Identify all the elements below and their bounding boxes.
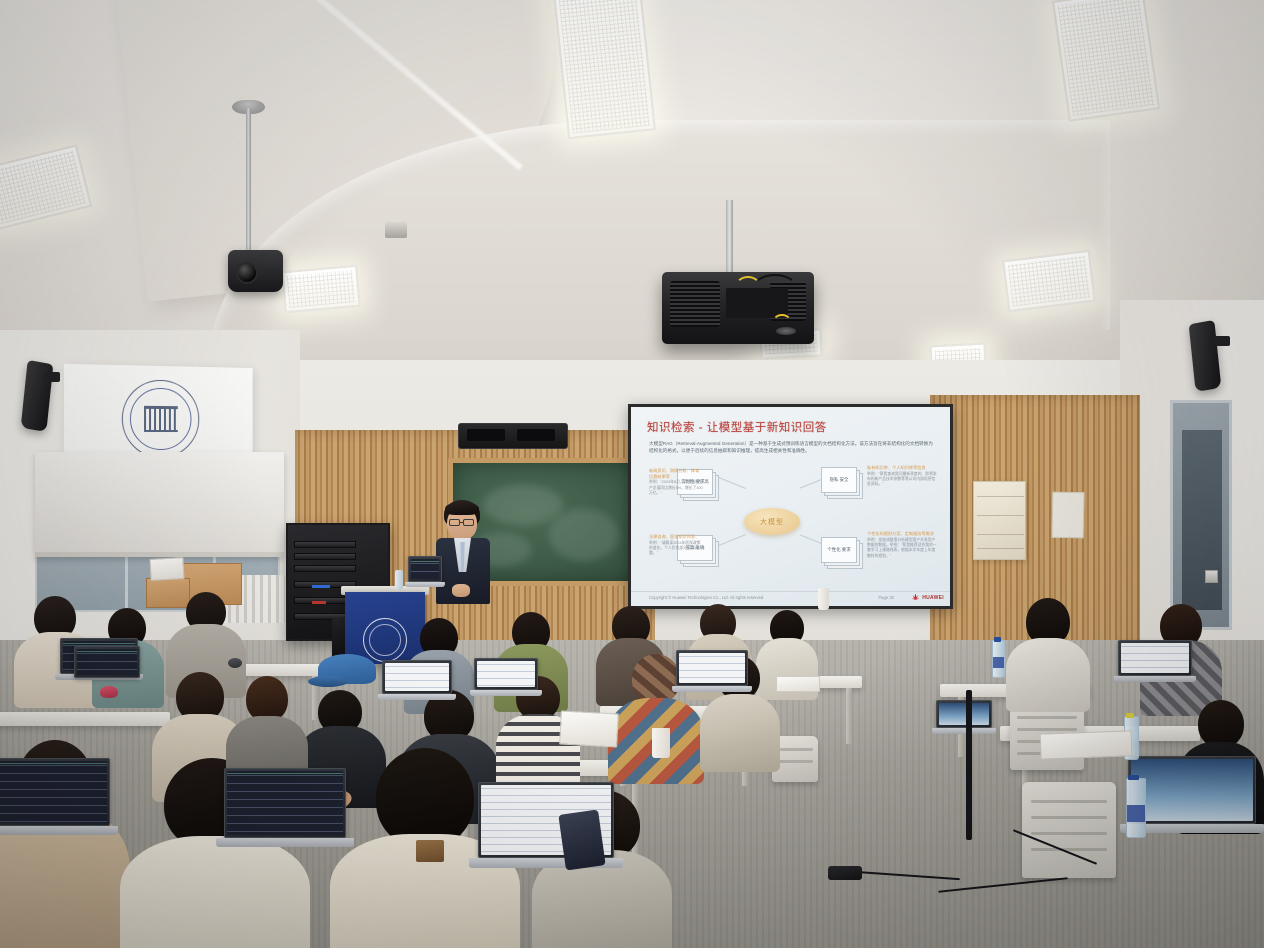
tablet-screen — [77, 649, 137, 675]
screen-content-document — [1121, 643, 1189, 673]
paper-sheet[interactable] — [559, 711, 619, 748]
rack-status-led — [312, 585, 330, 588]
projector-cable-yellow — [772, 314, 792, 332]
screen-content-document — [385, 663, 449, 691]
student-head — [632, 654, 680, 704]
rack-unit — [294, 553, 356, 560]
annotation-body: 举例："帮我查询我司最新季度的、即将发布的新产品技术参数等等公司内部机密信息资料… — [867, 472, 939, 488]
projector-vent — [670, 281, 720, 327]
diagram-card: 隐私 安全 — [821, 467, 857, 493]
seal-inner-ring — [130, 388, 192, 451]
university-seal-icon — [122, 379, 199, 458]
annotation-heading: 个性化的理财方案、定制服务等需求 — [867, 531, 939, 537]
right-door-glass — [1182, 430, 1222, 610]
student-laptop[interactable] — [676, 650, 748, 692]
annotation-body: 举例：发放调整需分析模型客户关系用户数据的数据。举例："帮我推荐适合我的一套学习… — [867, 538, 939, 559]
speaker-bracket — [1214, 336, 1230, 346]
rack-status-led — [312, 601, 326, 604]
chair-slat — [1031, 848, 1106, 851]
diagram-connector — [716, 534, 746, 547]
computer-mouse[interactable] — [228, 658, 242, 668]
blind-bottom-bar[interactable] — [35, 552, 284, 557]
bottle-cap — [1126, 713, 1134, 718]
desk — [0, 712, 170, 726]
student-torso — [700, 694, 780, 772]
slide-copyright: Copyright © Huawei Technologies Co., Ltd… — [649, 595, 764, 600]
laptop-keyboard-base[interactable] — [216, 838, 354, 847]
laptop-screen — [411, 559, 439, 579]
cap-brim — [308, 676, 348, 687]
tablet-screen-lid — [74, 646, 140, 678]
laptop-keyboard-base[interactable] — [470, 690, 542, 696]
board-av-unit — [458, 423, 568, 449]
diagram-card: 个性化 要求 — [821, 537, 857, 563]
laptop-screen — [385, 663, 449, 691]
laptop-lid — [224, 768, 346, 838]
slide-title: 知识检索 - 让模型基于新知识回答 — [647, 419, 827, 435]
rack-unit — [294, 541, 356, 548]
paper-sheet[interactable] — [776, 676, 820, 692]
student-head — [376, 748, 474, 848]
smartphone[interactable] — [558, 809, 605, 870]
ceiling-light-panel — [1002, 250, 1096, 312]
window-roller-blind[interactable] — [35, 452, 284, 557]
laptop-lid — [936, 700, 992, 728]
laptop-screen — [227, 771, 343, 835]
power-brick — [828, 866, 862, 880]
projection-screen: 知识检索 - 让模型基于新知识回答 大模型RAG（Retrieval-Augme… — [628, 404, 953, 609]
chair[interactable] — [1022, 782, 1116, 878]
chair-slat — [1017, 728, 1076, 731]
chair-slat — [1031, 800, 1106, 803]
ceiling-sensor — [385, 222, 407, 238]
wall-paper-sheet — [1052, 492, 1085, 539]
notebook[interactable] — [1040, 730, 1133, 759]
bottle-label — [1127, 805, 1145, 822]
laptop-lid — [0, 758, 110, 826]
student-laptop[interactable] — [382, 660, 452, 700]
screen-content-document — [477, 661, 535, 687]
desk-leg — [846, 688, 852, 744]
glasses-bridge — [460, 522, 463, 523]
slide-annotation: 私有知识库、个人知识库等信息 举例："帮我查询我司最新季度的、即将发布的新产品技… — [867, 465, 939, 488]
student-laptop[interactable] — [936, 700, 992, 734]
slide-body-text: 大模型RAG（Retrieval-Augmented Generation）是一… — [649, 440, 937, 454]
water-bottle[interactable] — [992, 640, 1005, 678]
annotation-heading: 新闻资讯、舆情分析、体育比赛结果等 — [649, 468, 703, 479]
ceiling-light-panel — [1052, 0, 1160, 122]
camera-lens-icon — [236, 262, 258, 284]
paper-stack — [149, 557, 184, 581]
chair-slat — [777, 748, 814, 751]
slide-page-number: Page 32 — [878, 595, 894, 600]
laptop-screen — [939, 703, 989, 725]
laptop-lid — [474, 658, 538, 690]
chair-slat — [1017, 716, 1076, 719]
presenter-hand — [452, 584, 470, 597]
student-laptop[interactable] — [224, 768, 346, 848]
screen-content-code — [411, 559, 439, 579]
huawei-logo: HUAWEI — [911, 593, 944, 602]
laptop-lid — [1128, 756, 1256, 824]
laptop-lid — [408, 556, 442, 582]
laptop-screen — [679, 653, 745, 683]
computer-mouse[interactable] — [100, 686, 118, 698]
eyeglasses-icon — [449, 519, 460, 526]
student — [1006, 598, 1090, 710]
student-torso — [120, 836, 310, 948]
diagram-connector — [716, 476, 746, 489]
annotation-heading: 私有知识库、个人知识库等信息 — [867, 465, 939, 471]
rack-unit — [294, 565, 356, 572]
bottle-cap — [1128, 775, 1139, 780]
ceiling-light-panel — [281, 265, 360, 313]
flipchart-line — [977, 515, 1024, 516]
screen-content-code — [227, 771, 343, 835]
floor-cable — [966, 690, 972, 840]
water-bottle — [395, 570, 403, 590]
classroom-photo: 吉林大学基础医学院 COLLEGE OF BASIC MEDICAL SCIEN… — [0, 0, 1264, 948]
chair-slat — [1031, 832, 1106, 835]
laptop-keyboard-base[interactable] — [932, 728, 996, 734]
laptop-keyboard-base[interactable] — [405, 582, 445, 587]
paper-cup[interactable] — [818, 588, 829, 610]
slide-annotation: 新闻资讯、舆情分析、体育比赛结果等 举例："2024年8月，我国国内生产总值同比… — [631, 468, 703, 496]
student-laptop[interactable] — [474, 658, 538, 696]
lectern-laptop[interactable] — [408, 556, 442, 588]
slide-footer: Copyright © Huawei Technologies Co., Ltd… — [631, 591, 950, 604]
slide-content: 知识检索 - 让模型基于新知识回答 大模型RAG（Retrieval-Augme… — [631, 407, 950, 606]
screen-content-wallpaper — [1131, 759, 1253, 821]
laptop-keyboard-base[interactable] — [0, 826, 118, 835]
speaker-bracket — [44, 372, 60, 382]
bottle-cap — [994, 637, 1001, 642]
laptop-keyboard-base[interactable] — [1114, 676, 1196, 682]
presenter — [428, 500, 498, 604]
paper-cup[interactable] — [652, 728, 670, 758]
chair-slat — [777, 760, 814, 763]
slide-annotation: 法律咨询、医学知识问答、 举例："请解读2024年医保政策的变化，个人负担部分如… — [631, 534, 703, 557]
laptop-screen — [1131, 759, 1253, 821]
student-head — [1198, 700, 1244, 748]
podium-seal-icon — [363, 618, 407, 662]
student-torso — [1006, 638, 1090, 712]
flipchart-line — [977, 534, 1024, 535]
laptop-screen — [0, 761, 107, 823]
ceiling-light-panel — [552, 0, 656, 139]
huawei-flower-icon — [911, 593, 920, 602]
laptop-lid — [676, 650, 748, 686]
student-tablet[interactable] — [74, 646, 140, 682]
screen-content-wallpaper — [939, 703, 989, 725]
paper-flipchart — [973, 481, 1026, 560]
screen-content-document — [679, 653, 745, 683]
annotation-body: 举例："2024年8月，我国国内生产总值同比增长5%，增长了100万亿。" — [649, 480, 703, 496]
camera-pole — [246, 108, 251, 258]
flipchart-line — [977, 548, 1024, 549]
annotation-heading: 法律咨询、医学知识问答、 — [649, 534, 703, 540]
laptop-lid — [1118, 640, 1192, 676]
bottle-label — [993, 657, 1004, 668]
water-bottle[interactable] — [1126, 778, 1146, 838]
projector-cable-black — [752, 274, 798, 304]
flipchart-line — [977, 496, 1024, 497]
huawei-wordmark: HUAWEI — [922, 595, 944, 601]
laptop-screen — [1121, 643, 1189, 673]
eyeglasses-icon — [463, 519, 474, 526]
student-laptop[interactable] — [0, 758, 110, 836]
screen-content-code — [77, 649, 137, 675]
chalk-smudge — [549, 509, 619, 561]
slide-annotation: 个性化的理财方案、定制服务等需求 举例：发放调整需分析模型客户关系用户数据的数据… — [867, 531, 939, 559]
diagram-center-node: 大模型 — [744, 508, 800, 535]
screen-content-code — [0, 761, 107, 823]
seal-building-icon — [144, 406, 178, 432]
annotation-body: 举例："请解读2024年医保政策的变化，个人负担部分如何调整。" — [649, 541, 703, 557]
student-laptop[interactable] — [1128, 756, 1256, 834]
light-switch[interactable] — [1205, 570, 1218, 583]
student-laptop[interactable] — [1118, 640, 1192, 682]
projector-mount-pole — [726, 200, 733, 275]
presenter-hair-front — [445, 502, 479, 515]
laptop-screen — [477, 661, 535, 687]
sweater-patch — [416, 840, 444, 862]
laptop-keyboard-base[interactable] — [378, 694, 456, 700]
laptop-lid — [382, 660, 452, 694]
chair-slat — [1031, 816, 1106, 819]
laptop-keyboard-base[interactable] — [672, 686, 752, 692]
